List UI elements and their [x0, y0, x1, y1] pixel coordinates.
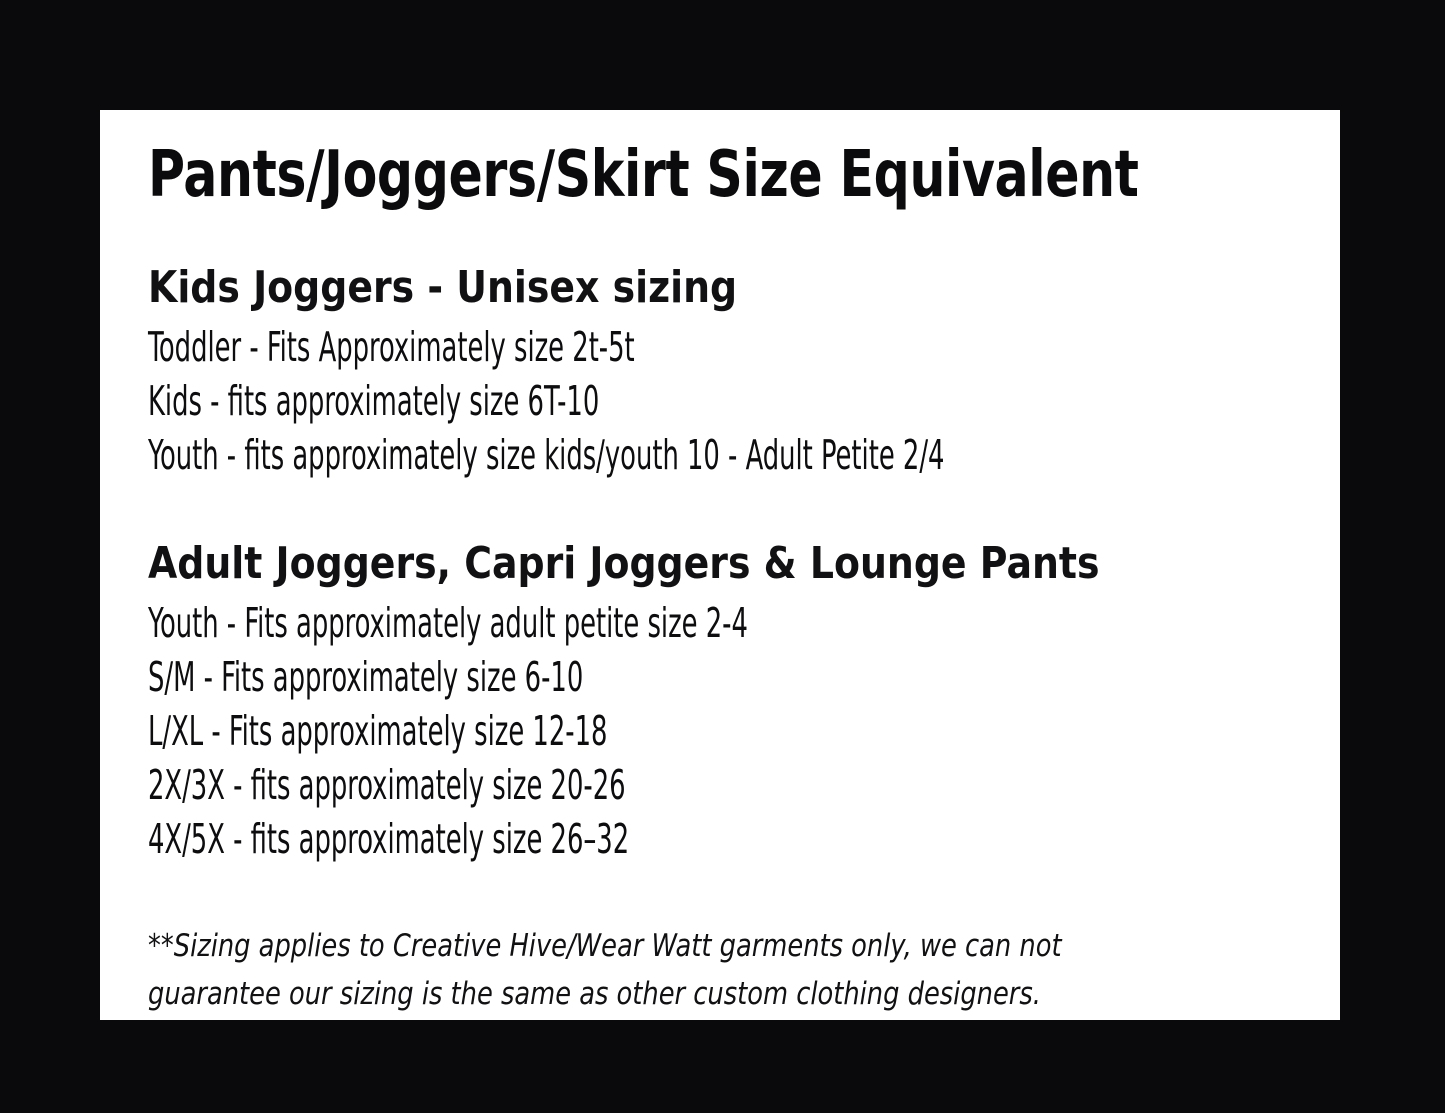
footnote-disclaimer: **Sizing applies to Creative Hive/Wear W… [148, 922, 1300, 1018]
section-adult-joggers: Adult Joggers, Capri Joggers & Lounge Pa… [148, 538, 1316, 866]
size-chart-poster: Pants/Joggers/Skirt Size Equivalent Kids… [0, 0, 1445, 1113]
page-title: Pants/Joggers/Skirt Size Equivalent [148, 138, 1138, 212]
section-heading-kids: Kids Joggers - Unisex sizing [148, 262, 1152, 314]
content-card: Pants/Joggers/Skirt Size Equivalent Kids… [100, 110, 1340, 1020]
size-line: L/XL - Fits approximately size 12-18 [148, 704, 966, 758]
size-line: 4X/5X - fits approximately size 26–32 [148, 812, 966, 866]
size-line: Kids - fits approximately size 6T-10 [148, 374, 966, 428]
footnote-line: guarantee our sizing is the same as othe… [148, 970, 1104, 1018]
section-kids-joggers: Kids Joggers - Unisex sizing Toddler - F… [148, 262, 1316, 482]
size-line: Toddler - Fits Approximately size 2t-5t [148, 320, 966, 374]
section-heading-adult: Adult Joggers, Capri Joggers & Lounge Pa… [148, 538, 1152, 590]
size-list-adult: Youth - Fits approximately adult petite … [148, 596, 1316, 866]
size-line: Youth - fits approximately size kids/you… [148, 428, 966, 482]
size-line: 2X/3X - fits approximately size 20-26 [148, 758, 966, 812]
size-line: Youth - Fits approximately adult petite … [148, 596, 966, 650]
size-list-kids: Toddler - Fits Approximately size 2t-5t … [148, 320, 1316, 482]
footnote-line: **Sizing applies to Creative Hive/Wear W… [148, 922, 1104, 970]
size-line: S/M - Fits approximately size 6-10 [148, 650, 966, 704]
